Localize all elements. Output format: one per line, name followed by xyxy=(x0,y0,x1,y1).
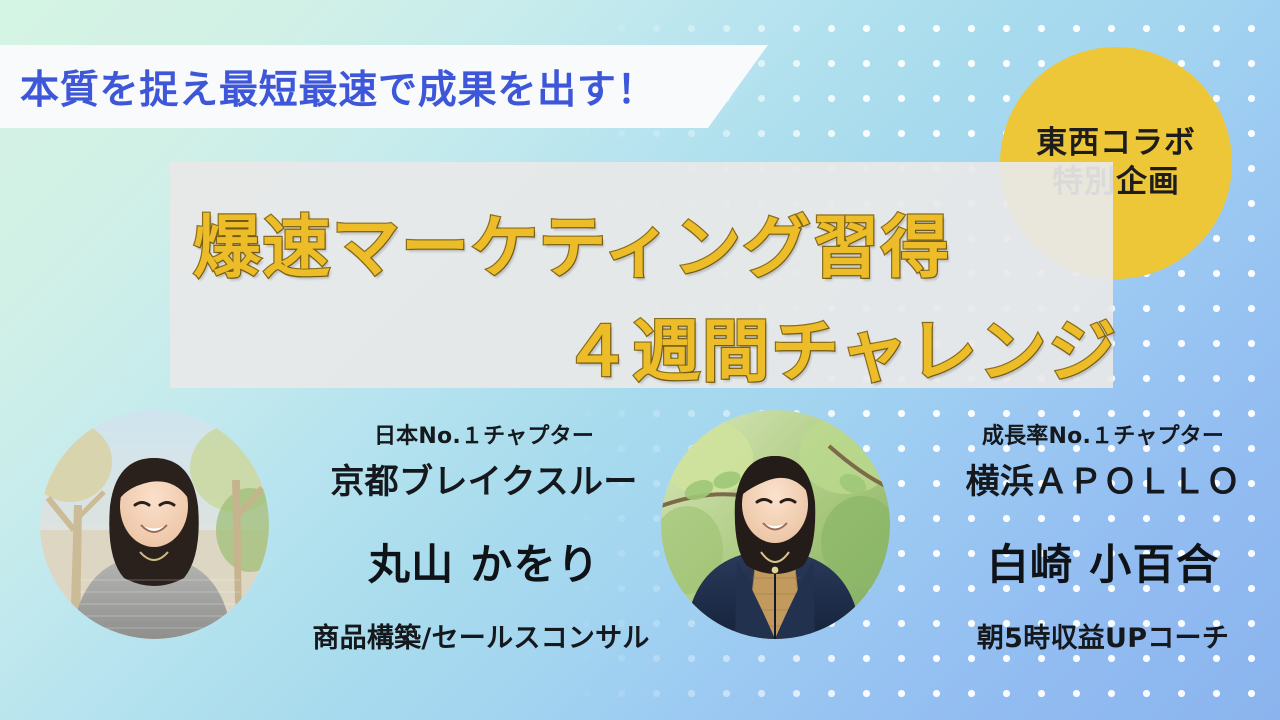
headline-line-2: ４週間チャレンジ xyxy=(563,296,1117,395)
portrait-shirasaki-illustration xyxy=(661,410,890,639)
presenter-name-right: 白崎 小百合 xyxy=(904,531,1280,592)
presenter-role-right: 朝5時収益UPコーチ xyxy=(904,616,1280,655)
chapter-rank-right: 成長率No.１チャプター xyxy=(904,418,1280,450)
chapter-name-right: 横浜ＡＰＯＬＬＯ xyxy=(904,454,1280,503)
presenter-name-left: 丸山 かをり xyxy=(284,531,684,592)
tagline-text: 本質を捉え最短最速で成果を出す！ xyxy=(20,59,656,115)
headline-line-1: 爆速マーケティング習得 xyxy=(193,192,951,291)
presenter-photo-left xyxy=(40,410,269,639)
portrait-maruyama-illustration xyxy=(40,410,269,639)
presenter-photo-right xyxy=(661,410,890,639)
chapter-name-left: 京都ブレイクスルー xyxy=(284,454,684,503)
promo-poster: 本質を捉え最短最速で成果を出す！ 東西コラボ 特別企画 爆速マーケティング習得 … xyxy=(0,0,1280,720)
presenter-role-left: 商品構築/セールスコンサル xyxy=(278,616,684,655)
badge-line-1: 東西コラボ xyxy=(1036,124,1196,163)
chapter-rank-left: 日本No.１チャプター xyxy=(284,418,684,450)
presenter-info-left: 日本No.１チャプター 京都ブレイクスルー 丸山 かをり 商品構築/セールスコン… xyxy=(284,418,684,655)
presenter-info-right: 成長率No.１チャプター 横浜ＡＰＯＬＬＯ 白崎 小百合 朝5時収益UPコーチ xyxy=(904,418,1280,655)
tagline-ribbon: 本質を捉え最短最速で成果を出す！ xyxy=(0,45,780,128)
